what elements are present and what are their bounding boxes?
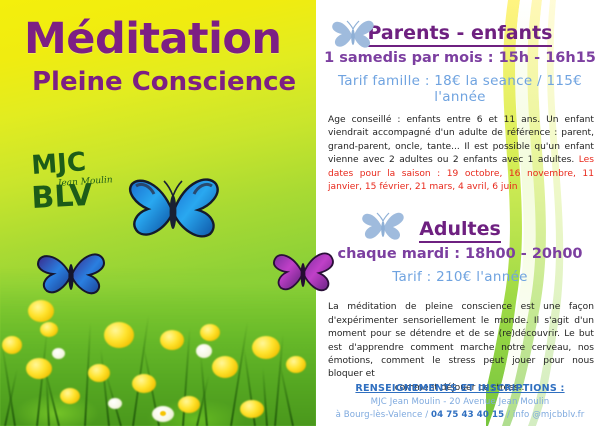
flower-yellow [104,322,134,348]
logo-line3: BLV [31,178,95,212]
footer-email: @mjcbblv.fr [532,410,584,420]
flower-daisy [52,348,65,359]
page-subtitle: Pleine Conscience [0,69,316,95]
flower-yellow [200,324,220,341]
content-column: Parents - enfants 1 samedis par mois : 1… [320,0,600,426]
butterfly-icon [360,210,406,242]
section-schedule: chaque mardi : 18h00 - 20h00 [320,246,600,262]
flower-center [160,411,166,416]
flower-yellow [60,388,80,404]
flower-yellow [160,330,184,350]
section-body-black: La méditation de pleine conscience est u… [328,302,594,379]
footer-city: à Bourg-lès-Valence / [336,410,431,420]
section-heading-text: Parents - enfants [368,22,553,47]
section-body: La méditation de pleine conscience est u… [320,301,600,395]
flower-yellow [26,358,52,379]
poster-canvas: Méditation Pleine Conscience MJC Jean Mo… [0,0,600,426]
flower-yellow [88,364,110,382]
section-adultes: Adultes chaque mardi : 18h00 - 20h00 Tar… [320,194,600,395]
section-heading-text: Adultes [419,218,501,243]
footer-address: MJC Jean Moulin - 20 Avenue Jean Moulin [320,397,600,407]
poster-title-block: Méditation Pleine Conscience [0,18,316,95]
section-body-black: Age conseillé : enfants entre 6 et 11 an… [328,115,594,165]
flower-yellow [132,374,156,393]
section-tarif: Tarif famille : 18€ la seance / 115€ l'a… [320,73,600,105]
footer-separator: / info [504,410,532,420]
logo-line1: MJC [30,147,87,181]
section-body: Age conseillé : enfants entre 6 et 11 an… [320,114,600,194]
flower-daisy [196,344,212,358]
flower-daisy [108,398,122,409]
flower-yellow [286,356,306,373]
flower-yellow [240,400,264,418]
flower-yellow [252,336,280,359]
section-parents-enfants: Parents - enfants 1 samedis par mois : 1… [320,0,600,194]
section-tarif: Tarif : 210€ l'année [320,269,600,285]
footer-contact: RENSEIGNEMENTS ET INSCRIPTIONS : MJC Jea… [320,383,600,420]
footer-contact-line: à Bourg-lès-Valence / 04 75 43 40 15 / i… [320,410,600,420]
flower-yellow [178,396,200,413]
mjc-logo: MJC Jean Moulin BLV [28,146,148,212]
flower-yellow [28,300,54,322]
flower-yellow [212,356,238,378]
flower-yellow [40,322,58,337]
flower-yellow [2,336,22,354]
footer-title: RENSEIGNEMENTS ET INSCRIPTIONS : [320,383,600,394]
page-title: Méditation [0,18,316,61]
section-schedule: 1 samedis par mois : 15h - 16h15 [320,50,600,66]
butterfly-icon [330,18,376,50]
footer-phone: 04 75 43 40 15 [431,410,504,420]
butterfly-purple [272,248,336,296]
butterfly-blue-small [36,248,108,300]
